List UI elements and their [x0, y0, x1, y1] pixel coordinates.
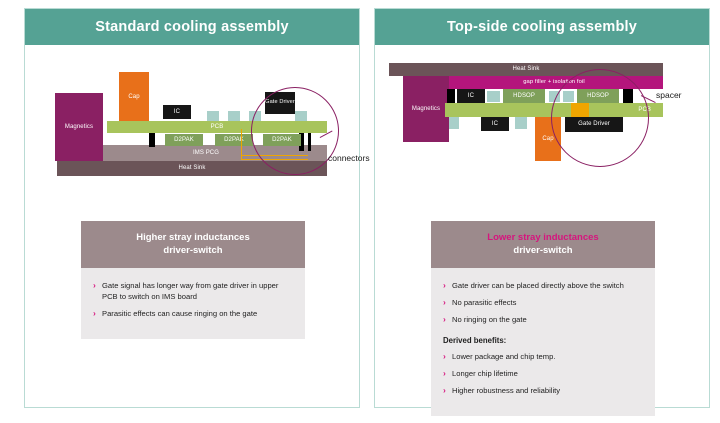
component-package-1-label: HDSOP	[503, 89, 545, 103]
panel-header-topside: Top-side cooling assembly	[375, 9, 709, 45]
list-item: Gate signal has longer way from gate dri…	[93, 280, 293, 302]
connector-pad-1	[487, 91, 500, 102]
card-standard: Higher stray inductances driver-switch G…	[81, 221, 305, 339]
list-item: Parasitic effects can cause ringing on t…	[93, 308, 293, 319]
component-ic-label: IC	[163, 105, 191, 119]
panel-standard-cooling: Standard cooling assembly Heat Sink IMS …	[24, 8, 360, 408]
component-ic-top-label: IC	[457, 89, 485, 103]
list-item: No ringing on the gate	[443, 314, 643, 325]
slide-canvas: Standard cooling assembly Heat Sink IMS …	[0, 0, 720, 423]
card-heading-line1: Lower stray inductances	[439, 232, 647, 245]
panel-body-topside: Heat Sink gap filler + isolation foil Ma…	[375, 45, 709, 408]
highlight-circle-connectors	[251, 87, 339, 175]
pin-left	[447, 89, 455, 103]
list-item: Higher robustness and reliability	[443, 385, 643, 396]
pin-left	[149, 133, 155, 147]
connector-pad-1	[207, 111, 219, 121]
panel-header-standard: Standard cooling assembly	[25, 9, 359, 45]
card-heading-line1: Higher stray inductances	[89, 232, 297, 245]
card-heading-line2: driver-switch	[439, 245, 647, 258]
connector-pad-2	[228, 111, 240, 121]
card-heading-standard: Higher stray inductances driver-switch	[81, 221, 305, 268]
derived-benefits-heading: Derived benefits:	[443, 336, 643, 345]
callout-connectors: connectors	[328, 153, 370, 163]
component-cap-label: Cap	[119, 72, 149, 122]
diagram-standard-cooling: Heat Sink IMS PCG Magnetics Cap IC	[25, 45, 359, 203]
component-ic-bottom-label: IC	[481, 117, 509, 131]
highlight-circle-spacer	[551, 69, 649, 167]
component-magnetics-label: Magnetics	[403, 76, 449, 142]
list-item: Longer chip lifetime	[443, 368, 643, 379]
card-body-standard: Gate signal has longer way from gate dri…	[81, 268, 305, 339]
connector-pad-5	[515, 117, 527, 129]
list-item: Gate driver can be placed directly above…	[443, 280, 643, 291]
component-package-1-label: D2PAK	[165, 134, 203, 146]
connector-pad-4	[449, 117, 459, 129]
card-heading-topside: Lower stray inductances driver-switch	[431, 221, 655, 268]
panel-title: Standard cooling assembly	[95, 19, 289, 35]
panel-title: Top-side cooling assembly	[447, 19, 637, 35]
panel-body-standard: Heat Sink IMS PCG Magnetics Cap IC	[25, 45, 359, 408]
panel-topside-cooling: Top-side cooling assembly Heat Sink gap …	[374, 8, 710, 408]
list-item: No parasitic effects	[443, 297, 643, 308]
list-item: Lower package and chip temp.	[443, 351, 643, 362]
card-body-topside: Gate driver can be placed directly above…	[431, 268, 655, 416]
card-topside: Lower stray inductances driver-switch Ga…	[431, 221, 655, 416]
callout-spacer: spacer	[656, 90, 682, 100]
card-heading-line2: driver-switch	[89, 245, 297, 258]
diagram-topside-cooling: Heat Sink gap filler + isolation foil Ma…	[375, 45, 709, 203]
component-magnetics-label: Magnetics	[55, 93, 103, 161]
